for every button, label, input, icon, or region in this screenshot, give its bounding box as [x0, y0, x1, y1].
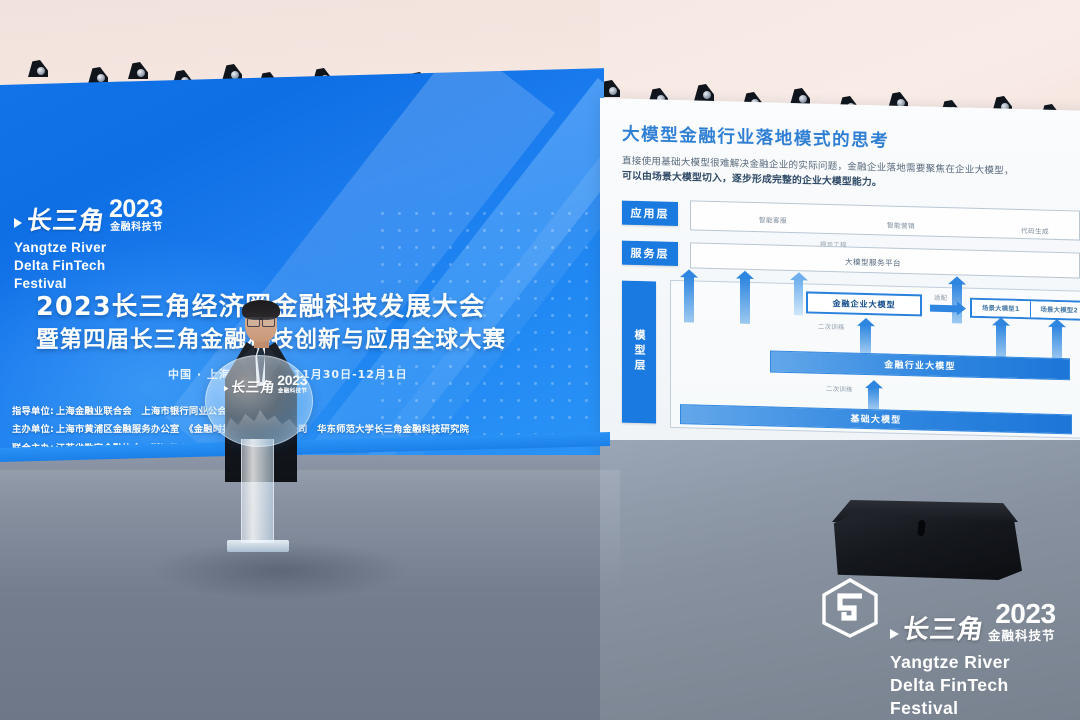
- slide-diagram: 应用层 智能客服 智能营销 代码生成 提示工程 服务层 大模型服务平台 模型层: [622, 196, 1074, 458]
- app-item-2: 代码生成: [1021, 225, 1049, 236]
- flow-arrow-right: [930, 304, 958, 312]
- watermark-arrow-icon: [890, 629, 899, 639]
- watermark-cn: 长三角: [901, 617, 986, 643]
- service-platform-label: 大模型服务平台: [845, 256, 901, 268]
- podium-logo: 长三角 2023 金融科技节: [224, 374, 307, 394]
- stage-monitor-speaker: [826, 500, 1022, 582]
- flow-arrow-up: [1052, 325, 1062, 359]
- watermark: 长三角 2023 金融科技节 Yangtze River Delta FinTe…: [818, 578, 1068, 710]
- podium-base: [227, 540, 289, 552]
- podium-logo-cn: 长三角: [230, 380, 276, 394]
- brand-year: 2023: [109, 197, 163, 222]
- watermark-text: 长三角 2023 金融科技节 Yangtze River Delta FinTe…: [890, 600, 1056, 720]
- watermark-en-line3: Festival: [890, 697, 1056, 720]
- brand-en-line2: Delta FinTech: [14, 257, 163, 275]
- podium-arrow-icon: [224, 386, 228, 392]
- glasses-icon: [247, 317, 275, 324]
- app-item-0: 智能客服: [759, 214, 787, 225]
- watermark-sub-cn: 金融科技节: [988, 630, 1056, 643]
- brand-en-line1: Yangtze River: [14, 239, 163, 257]
- watermark-en-line2: Delta FinTech: [890, 674, 1056, 697]
- backdrop-brand-logo: 长三角 2023 金融科技节 Yangtze River Delta FinTe…: [14, 197, 163, 292]
- flow-arrow-up: [794, 279, 803, 315]
- flow-arrow-up: [996, 324, 1006, 358]
- enterprise-model-chip: 金融企业大模型: [806, 291, 922, 316]
- festival-mark-icon: [820, 578, 880, 638]
- app-item-1: 智能营销: [887, 219, 915, 230]
- scene-model-1: 场景大模型1: [972, 299, 1031, 317]
- flow-arrow-up: [684, 276, 694, 322]
- flow-arrow-up: [868, 387, 879, 409]
- brand-sub-cn: 金融科技节: [110, 223, 163, 233]
- scene-models-group: 场景大模型1 场景大模型2: [970, 297, 1080, 320]
- presentation-screen: 大模型金融行业落地模式的思考 直接使用基础大模型很难解决金融企业的实际问题，金融…: [600, 98, 1080, 483]
- flow-arrow-up: [740, 277, 750, 323]
- layer-label-application: 应用层: [622, 200, 678, 225]
- podium-logo-year: 2023: [277, 374, 307, 388]
- scene-model-2: 场景大模型2: [1031, 301, 1080, 319]
- podium-skyline-graphic: [214, 402, 306, 442]
- layer-label-model: 模型层: [622, 280, 656, 423]
- slide-title: 大模型金融行业落地模式的思考: [622, 121, 1074, 158]
- podium-logo-sub: 金融科技节: [278, 389, 307, 395]
- brand-en-line3: Festival: [14, 275, 163, 293]
- arrow-label-retrain: 二次训练: [826, 383, 853, 393]
- layer-label-service: 服务层: [622, 240, 678, 265]
- watermark-en-line1: Yangtze River: [890, 651, 1056, 674]
- podium: 长三角 2023 金融科技节: [205, 355, 313, 555]
- organizer-key: 指导单位:: [12, 406, 54, 417]
- flow-arrow-up: [860, 324, 871, 352]
- watermark-year: 2023: [995, 600, 1055, 628]
- podium-front-panel: 长三角 2023 金融科技节: [205, 355, 313, 447]
- arrow-label-adapt: 适配: [934, 292, 947, 301]
- podium-stem: [241, 439, 274, 543]
- brand-arrow-icon: [14, 218, 22, 228]
- conference-stage-photo: 长三角 2023 金融科技节 Yangtze River Delta FinTe…: [0, 0, 1080, 720]
- application-layer-box: 智能客服 智能营销 代码生成: [690, 200, 1080, 240]
- organizer-key: 主办单位:: [12, 424, 54, 435]
- brand-cn-text: 长三角: [25, 208, 107, 233]
- arrow-label-retrain: 二次训练: [818, 321, 845, 331]
